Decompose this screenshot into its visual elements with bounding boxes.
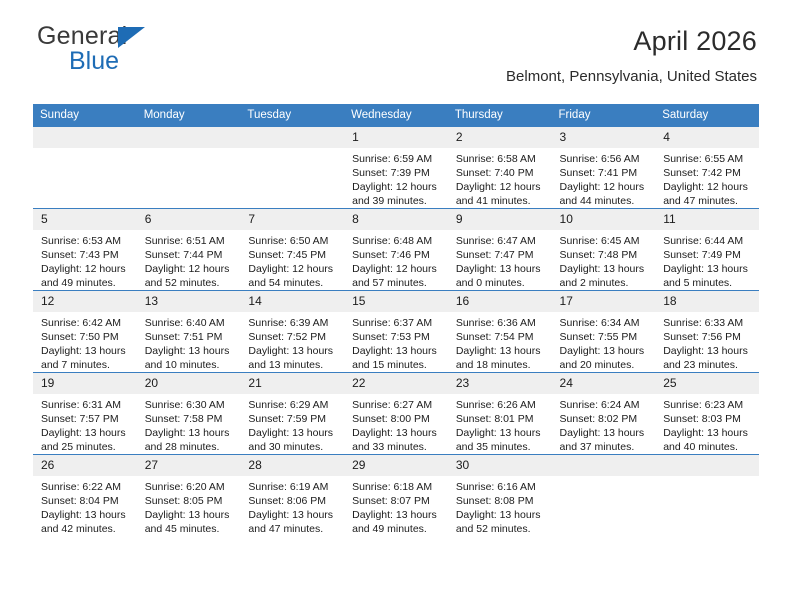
daylight-text-line1: Daylight: 13 hours — [41, 426, 131, 440]
daylight-text-line1: Daylight: 13 hours — [560, 426, 650, 440]
daylight-text-line2: and 7 minutes. — [41, 358, 131, 372]
sunrise-text: Sunrise: 6:34 AM — [560, 316, 650, 330]
weekday-header-thursday: Thursday — [448, 104, 552, 127]
day-details: Sunrise: 6:26 AMSunset: 8:01 PMDaylight:… — [448, 394, 552, 454]
calendar-day-cell[interactable]: 12Sunrise: 6:42 AMSunset: 7:50 PMDayligh… — [33, 291, 137, 373]
day-number: 2 — [448, 127, 552, 148]
daylight-text-line1: Daylight: 13 hours — [352, 426, 442, 440]
daylight-text-line2: and 42 minutes. — [41, 522, 131, 536]
general-blue-logo[interactable]: General Blue — [37, 24, 217, 76]
page-subtitle: Belmont, Pennsylvania, United States — [506, 68, 757, 85]
sunset-text: Sunset: 7:40 PM — [456, 166, 546, 180]
sunrise-text: Sunrise: 6:30 AM — [145, 398, 235, 412]
daylight-text-line1: Daylight: 13 hours — [560, 262, 650, 276]
calendar-body: 1Sunrise: 6:59 AMSunset: 7:39 PMDaylight… — [33, 127, 759, 537]
calendar-week-row: 26Sunrise: 6:22 AMSunset: 8:04 PMDayligh… — [33, 455, 759, 537]
sunrise-text: Sunrise: 6:45 AM — [560, 234, 650, 248]
sunset-text: Sunset: 8:02 PM — [560, 412, 650, 426]
sunrise-text: Sunrise: 6:40 AM — [145, 316, 235, 330]
day-details: Sunrise: 6:19 AMSunset: 8:06 PMDaylight:… — [240, 476, 344, 536]
weekday-header-wednesday: Wednesday — [344, 104, 448, 127]
sunset-text: Sunset: 7:52 PM — [248, 330, 338, 344]
daylight-text-line1: Daylight: 13 hours — [663, 426, 753, 440]
sunrise-text: Sunrise: 6:18 AM — [352, 480, 442, 494]
calendar-day-cell[interactable]: 14Sunrise: 6:39 AMSunset: 7:52 PMDayligh… — [240, 291, 344, 373]
daylight-text-line1: Daylight: 13 hours — [456, 508, 546, 522]
sunrise-text: Sunrise: 6:31 AM — [41, 398, 131, 412]
daylight-text-line1: Daylight: 13 hours — [352, 508, 442, 522]
daylight-text-line1: Daylight: 13 hours — [352, 344, 442, 358]
sunset-text: Sunset: 7:45 PM — [248, 248, 338, 262]
sunset-text: Sunset: 8:05 PM — [145, 494, 235, 508]
sunset-text: Sunset: 7:51 PM — [145, 330, 235, 344]
day-details: Sunrise: 6:24 AMSunset: 8:02 PMDaylight:… — [552, 394, 656, 454]
day-number: 1 — [344, 127, 448, 148]
calendar-day-cell[interactable]: 21Sunrise: 6:29 AMSunset: 7:59 PMDayligh… — [240, 373, 344, 455]
daylight-text-line1: Daylight: 13 hours — [248, 426, 338, 440]
calendar-header-row: Sunday Monday Tuesday Wednesday Thursday… — [33, 104, 759, 127]
sunrise-text: Sunrise: 6:44 AM — [663, 234, 753, 248]
day-number: 13 — [137, 291, 241, 312]
daylight-text-line2: and 57 minutes. — [352, 276, 442, 290]
day-number: 17 — [552, 291, 656, 312]
calendar-page: General Blue April 2026 Belmont, Pennsyl… — [0, 0, 792, 612]
daylight-text-line2: and 0 minutes. — [456, 276, 546, 290]
sunset-text: Sunset: 7:44 PM — [145, 248, 235, 262]
daylight-text-line1: Daylight: 13 hours — [41, 508, 131, 522]
daylight-text-line1: Daylight: 13 hours — [248, 508, 338, 522]
calendar-day-cell-empty — [137, 127, 241, 209]
logo-text-general: General — [37, 24, 217, 51]
calendar-day-cell[interactable]: 9Sunrise: 6:47 AMSunset: 7:47 PMDaylight… — [448, 209, 552, 291]
calendar-day-cell[interactable]: 7Sunrise: 6:50 AMSunset: 7:45 PMDaylight… — [240, 209, 344, 291]
daylight-text-line2: and 37 minutes. — [560, 440, 650, 454]
daylight-text-line2: and 41 minutes. — [456, 194, 546, 208]
sunrise-text: Sunrise: 6:36 AM — [456, 316, 546, 330]
day-number: 15 — [344, 291, 448, 312]
day-details: Sunrise: 6:58 AMSunset: 7:40 PMDaylight:… — [448, 148, 552, 208]
daylight-text-line1: Daylight: 12 hours — [352, 262, 442, 276]
daylight-text-line2: and 35 minutes. — [456, 440, 546, 454]
calendar-week-row: 5Sunrise: 6:53 AMSunset: 7:43 PMDaylight… — [33, 209, 759, 291]
daylight-text-line2: and 5 minutes. — [663, 276, 753, 290]
daylight-text-line1: Daylight: 13 hours — [145, 508, 235, 522]
sunrise-text: Sunrise: 6:26 AM — [456, 398, 546, 412]
day-number: 16 — [448, 291, 552, 312]
sunset-text: Sunset: 7:50 PM — [41, 330, 131, 344]
day-number: 25 — [655, 373, 759, 394]
sunset-text: Sunset: 8:04 PM — [41, 494, 131, 508]
sunrise-text: Sunrise: 6:22 AM — [41, 480, 131, 494]
sunset-text: Sunset: 7:58 PM — [145, 412, 235, 426]
calendar-day-cell[interactable]: 16Sunrise: 6:36 AMSunset: 7:54 PMDayligh… — [448, 291, 552, 373]
calendar-day-cell[interactable]: 18Sunrise: 6:33 AMSunset: 7:56 PMDayligh… — [655, 291, 759, 373]
sunset-text: Sunset: 7:39 PM — [352, 166, 442, 180]
calendar-day-cell[interactable]: 6Sunrise: 6:51 AMSunset: 7:44 PMDaylight… — [137, 209, 241, 291]
day-details: Sunrise: 6:42 AMSunset: 7:50 PMDaylight:… — [33, 312, 137, 372]
day-details: Sunrise: 6:44 AMSunset: 7:49 PMDaylight:… — [655, 230, 759, 290]
sunset-text: Sunset: 7:43 PM — [41, 248, 131, 262]
daylight-text-line1: Daylight: 13 hours — [560, 344, 650, 358]
sunrise-text: Sunrise: 6:50 AM — [248, 234, 338, 248]
day-number: 4 — [655, 127, 759, 148]
day-details: Sunrise: 6:40 AMSunset: 7:51 PMDaylight:… — [137, 312, 241, 372]
daylight-text-line1: Daylight: 13 hours — [41, 344, 131, 358]
sunset-text: Sunset: 8:07 PM — [352, 494, 442, 508]
sunset-text: Sunset: 7:49 PM — [663, 248, 753, 262]
calendar-day-cell[interactable]: 30Sunrise: 6:16 AMSunset: 8:08 PMDayligh… — [448, 455, 552, 537]
daylight-text-line2: and 47 minutes. — [663, 194, 753, 208]
calendar-week-row: 1Sunrise: 6:59 AMSunset: 7:39 PMDaylight… — [33, 127, 759, 209]
day-details: Sunrise: 6:20 AMSunset: 8:05 PMDaylight:… — [137, 476, 241, 536]
daylight-text-line1: Daylight: 12 hours — [41, 262, 131, 276]
daylight-text-line1: Daylight: 12 hours — [248, 262, 338, 276]
sunset-text: Sunset: 7:48 PM — [560, 248, 650, 262]
daylight-text-line2: and 54 minutes. — [248, 276, 338, 290]
calendar-day-cell[interactable]: 24Sunrise: 6:24 AMSunset: 8:02 PMDayligh… — [552, 373, 656, 455]
daylight-text-line1: Daylight: 13 hours — [663, 344, 753, 358]
sunset-text: Sunset: 7:41 PM — [560, 166, 650, 180]
sunset-text: Sunset: 7:59 PM — [248, 412, 338, 426]
day-number: 6 — [137, 209, 241, 230]
sunrise-text: Sunrise: 6:59 AM — [352, 152, 442, 166]
day-details: Sunrise: 6:47 AMSunset: 7:47 PMDaylight:… — [448, 230, 552, 290]
sunset-text: Sunset: 8:03 PM — [663, 412, 753, 426]
sunrise-text: Sunrise: 6:55 AM — [663, 152, 753, 166]
daylight-text-line2: and 49 minutes. — [352, 522, 442, 536]
day-details: Sunrise: 6:33 AMSunset: 7:56 PMDaylight:… — [655, 312, 759, 372]
daylight-text-line1: Daylight: 13 hours — [248, 344, 338, 358]
sunrise-text: Sunrise: 6:58 AM — [456, 152, 546, 166]
weekday-header-friday: Friday — [552, 104, 656, 127]
calendar-day-cell[interactable]: 25Sunrise: 6:23 AMSunset: 8:03 PMDayligh… — [655, 373, 759, 455]
daylight-text-line1: Daylight: 13 hours — [456, 426, 546, 440]
sunrise-text: Sunrise: 6:33 AM — [663, 316, 753, 330]
calendar-day-cell[interactable]: 4Sunrise: 6:55 AMSunset: 7:42 PMDaylight… — [655, 127, 759, 209]
daylight-text-line1: Daylight: 13 hours — [456, 344, 546, 358]
calendar-day-cell[interactable]: 8Sunrise: 6:48 AMSunset: 7:46 PMDaylight… — [344, 209, 448, 291]
daylight-text-line1: Daylight: 13 hours — [145, 426, 235, 440]
day-number: 24 — [552, 373, 656, 394]
calendar-day-cell[interactable]: 26Sunrise: 6:22 AMSunset: 8:04 PMDayligh… — [33, 455, 137, 537]
day-number: 21 — [240, 373, 344, 394]
calendar-day-cell[interactable]: 20Sunrise: 6:30 AMSunset: 7:58 PMDayligh… — [137, 373, 241, 455]
day-number: 19 — [33, 373, 137, 394]
day-number — [240, 127, 344, 148]
sunset-text: Sunset: 8:08 PM — [456, 494, 546, 508]
daylight-text-line2: and 49 minutes. — [41, 276, 131, 290]
calendar-day-cell[interactable]: 19Sunrise: 6:31 AMSunset: 7:57 PMDayligh… — [33, 373, 137, 455]
day-number: 20 — [137, 373, 241, 394]
sunset-text: Sunset: 8:01 PM — [456, 412, 546, 426]
calendar-day-cell-empty — [655, 455, 759, 537]
sunrise-text: Sunrise: 6:42 AM — [41, 316, 131, 330]
logo-triangle-icon — [118, 27, 145, 48]
sunrise-text: Sunrise: 6:51 AM — [145, 234, 235, 248]
day-details: Sunrise: 6:51 AMSunset: 7:44 PMDaylight:… — [137, 230, 241, 290]
day-details: Sunrise: 6:45 AMSunset: 7:48 PMDaylight:… — [552, 230, 656, 290]
daylight-text-line2: and 20 minutes. — [560, 358, 650, 372]
day-number: 9 — [448, 209, 552, 230]
calendar-day-cell[interactable]: 11Sunrise: 6:44 AMSunset: 7:49 PMDayligh… — [655, 209, 759, 291]
daylight-text-line2: and 25 minutes. — [41, 440, 131, 454]
sunrise-text: Sunrise: 6:24 AM — [560, 398, 650, 412]
day-number — [33, 127, 137, 148]
sunrise-text: Sunrise: 6:47 AM — [456, 234, 546, 248]
day-number: 28 — [240, 455, 344, 476]
day-details: Sunrise: 6:27 AMSunset: 8:00 PMDaylight:… — [344, 394, 448, 454]
calendar-week-row: 19Sunrise: 6:31 AMSunset: 7:57 PMDayligh… — [33, 373, 759, 455]
day-number: 8 — [344, 209, 448, 230]
sunrise-text: Sunrise: 6:27 AM — [352, 398, 442, 412]
day-number: 26 — [33, 455, 137, 476]
calendar-day-cell[interactable]: 23Sunrise: 6:26 AMSunset: 8:01 PMDayligh… — [448, 373, 552, 455]
sunrise-text: Sunrise: 6:53 AM — [41, 234, 131, 248]
daylight-text-line2: and 39 minutes. — [352, 194, 442, 208]
day-details: Sunrise: 6:48 AMSunset: 7:46 PMDaylight:… — [344, 230, 448, 290]
day-details: Sunrise: 6:37 AMSunset: 7:53 PMDaylight:… — [344, 312, 448, 372]
calendar-day-cell[interactable]: 28Sunrise: 6:19 AMSunset: 8:06 PMDayligh… — [240, 455, 344, 537]
sunset-text: Sunset: 7:54 PM — [456, 330, 546, 344]
daylight-text-line2: and 30 minutes. — [248, 440, 338, 454]
day-number: 7 — [240, 209, 344, 230]
daylight-text-line2: and 23 minutes. — [663, 358, 753, 372]
daylight-text-line2: and 52 minutes. — [456, 522, 546, 536]
day-number — [655, 455, 759, 476]
day-details: Sunrise: 6:39 AMSunset: 7:52 PMDaylight:… — [240, 312, 344, 372]
calendar-day-cell-empty — [552, 455, 656, 537]
daylight-text-line1: Daylight: 12 hours — [560, 180, 650, 194]
calendar-table: Sunday Monday Tuesday Wednesday Thursday… — [33, 104, 759, 536]
sunset-text: Sunset: 7:56 PM — [663, 330, 753, 344]
day-number: 22 — [344, 373, 448, 394]
daylight-text-line1: Daylight: 12 hours — [352, 180, 442, 194]
day-number: 14 — [240, 291, 344, 312]
daylight-text-line2: and 40 minutes. — [663, 440, 753, 454]
calendar-week-row: 12Sunrise: 6:42 AMSunset: 7:50 PMDayligh… — [33, 291, 759, 373]
page-header: General Blue April 2026 Belmont, Pennsyl… — [33, 0, 759, 84]
sunset-text: Sunset: 8:06 PM — [248, 494, 338, 508]
daylight-text-line2: and 10 minutes. — [145, 358, 235, 372]
daylight-text-line2: and 13 minutes. — [248, 358, 338, 372]
sunset-text: Sunset: 7:46 PM — [352, 248, 442, 262]
day-details: Sunrise: 6:50 AMSunset: 7:45 PMDaylight:… — [240, 230, 344, 290]
sunrise-text: Sunrise: 6:23 AM — [663, 398, 753, 412]
logo-word-general: General — [37, 22, 127, 50]
daylight-text-line2: and 18 minutes. — [456, 358, 546, 372]
day-number: 3 — [552, 127, 656, 148]
sunrise-text: Sunrise: 6:48 AM — [352, 234, 442, 248]
calendar-day-cell[interactable]: 13Sunrise: 6:40 AMSunset: 7:51 PMDayligh… — [137, 291, 241, 373]
day-details: Sunrise: 6:22 AMSunset: 8:04 PMDaylight:… — [33, 476, 137, 536]
day-number: 11 — [655, 209, 759, 230]
day-details: Sunrise: 6:36 AMSunset: 7:54 PMDaylight:… — [448, 312, 552, 372]
day-details: Sunrise: 6:59 AMSunset: 7:39 PMDaylight:… — [344, 148, 448, 208]
calendar-day-cell[interactable]: 1Sunrise: 6:59 AMSunset: 7:39 PMDaylight… — [344, 127, 448, 209]
weekday-header-tuesday: Tuesday — [240, 104, 344, 127]
sunrise-text: Sunrise: 6:37 AM — [352, 316, 442, 330]
calendar-day-cell-empty — [33, 127, 137, 209]
calendar-day-cell[interactable]: 17Sunrise: 6:34 AMSunset: 7:55 PMDayligh… — [552, 291, 656, 373]
daylight-text-line2: and 45 minutes. — [145, 522, 235, 536]
day-details: Sunrise: 6:29 AMSunset: 7:59 PMDaylight:… — [240, 394, 344, 454]
day-details: Sunrise: 6:16 AMSunset: 8:08 PMDaylight:… — [448, 476, 552, 536]
sunset-text: Sunset: 7:53 PM — [352, 330, 442, 344]
day-number — [552, 455, 656, 476]
daylight-text-line2: and 33 minutes. — [352, 440, 442, 454]
sunset-text: Sunset: 7:42 PM — [663, 166, 753, 180]
sunrise-text: Sunrise: 6:16 AM — [456, 480, 546, 494]
day-details: Sunrise: 6:23 AMSunset: 8:03 PMDaylight:… — [655, 394, 759, 454]
weekday-header-monday: Monday — [137, 104, 241, 127]
day-number: 12 — [33, 291, 137, 312]
sunrise-text: Sunrise: 6:56 AM — [560, 152, 650, 166]
weekday-header-sunday: Sunday — [33, 104, 137, 127]
day-details: Sunrise: 6:53 AMSunset: 7:43 PMDaylight:… — [33, 230, 137, 290]
sunset-text: Sunset: 7:55 PM — [560, 330, 650, 344]
day-number: 30 — [448, 455, 552, 476]
weekday-header-saturday: Saturday — [655, 104, 759, 127]
day-number: 29 — [344, 455, 448, 476]
daylight-text-line1: Daylight: 13 hours — [456, 262, 546, 276]
sunset-text: Sunset: 7:57 PM — [41, 412, 131, 426]
logo-word-blue: Blue — [37, 49, 217, 74]
daylight-text-line2: and 44 minutes. — [560, 194, 650, 208]
day-details: Sunrise: 6:31 AMSunset: 7:57 PMDaylight:… — [33, 394, 137, 454]
calendar-day-cell-empty — [240, 127, 344, 209]
calendar-day-cell[interactable]: 2Sunrise: 6:58 AMSunset: 7:40 PMDaylight… — [448, 127, 552, 209]
calendar-day-cell[interactable]: 10Sunrise: 6:45 AMSunset: 7:48 PMDayligh… — [552, 209, 656, 291]
calendar-day-cell[interactable]: 3Sunrise: 6:56 AMSunset: 7:41 PMDaylight… — [552, 127, 656, 209]
daylight-text-line1: Daylight: 13 hours — [663, 262, 753, 276]
day-details: Sunrise: 6:18 AMSunset: 8:07 PMDaylight:… — [344, 476, 448, 536]
day-number — [137, 127, 241, 148]
sunset-text: Sunset: 8:00 PM — [352, 412, 442, 426]
day-number: 10 — [552, 209, 656, 230]
page-title: April 2026 — [633, 26, 757, 57]
daylight-text-line2: and 2 minutes. — [560, 276, 650, 290]
sunset-text: Sunset: 7:47 PM — [456, 248, 546, 262]
sunrise-text: Sunrise: 6:19 AM — [248, 480, 338, 494]
calendar-day-cell[interactable]: 27Sunrise: 6:20 AMSunset: 8:05 PMDayligh… — [137, 455, 241, 537]
daylight-text-line1: Daylight: 13 hours — [145, 344, 235, 358]
sunrise-text: Sunrise: 6:20 AM — [145, 480, 235, 494]
calendar-day-cell[interactable]: 15Sunrise: 6:37 AMSunset: 7:53 PMDayligh… — [344, 291, 448, 373]
daylight-text-line2: and 52 minutes. — [145, 276, 235, 290]
daylight-text-line2: and 15 minutes. — [352, 358, 442, 372]
calendar-day-cell[interactable]: 29Sunrise: 6:18 AMSunset: 8:07 PMDayligh… — [344, 455, 448, 537]
day-number: 27 — [137, 455, 241, 476]
daylight-text-line2: and 47 minutes. — [248, 522, 338, 536]
day-number: 18 — [655, 291, 759, 312]
day-details: Sunrise: 6:30 AMSunset: 7:58 PMDaylight:… — [137, 394, 241, 454]
sunrise-text: Sunrise: 6:39 AM — [248, 316, 338, 330]
day-details: Sunrise: 6:56 AMSunset: 7:41 PMDaylight:… — [552, 148, 656, 208]
day-number: 23 — [448, 373, 552, 394]
calendar-day-cell[interactable]: 5Sunrise: 6:53 AMSunset: 7:43 PMDaylight… — [33, 209, 137, 291]
daylight-text-line1: Daylight: 12 hours — [456, 180, 546, 194]
calendar-day-cell[interactable]: 22Sunrise: 6:27 AMSunset: 8:00 PMDayligh… — [344, 373, 448, 455]
sunrise-text: Sunrise: 6:29 AM — [248, 398, 338, 412]
day-details: Sunrise: 6:34 AMSunset: 7:55 PMDaylight:… — [552, 312, 656, 372]
day-number: 5 — [33, 209, 137, 230]
daylight-text-line1: Daylight: 12 hours — [663, 180, 753, 194]
daylight-text-line1: Daylight: 12 hours — [145, 262, 235, 276]
daylight-text-line2: and 28 minutes. — [145, 440, 235, 454]
day-details: Sunrise: 6:55 AMSunset: 7:42 PMDaylight:… — [655, 148, 759, 208]
